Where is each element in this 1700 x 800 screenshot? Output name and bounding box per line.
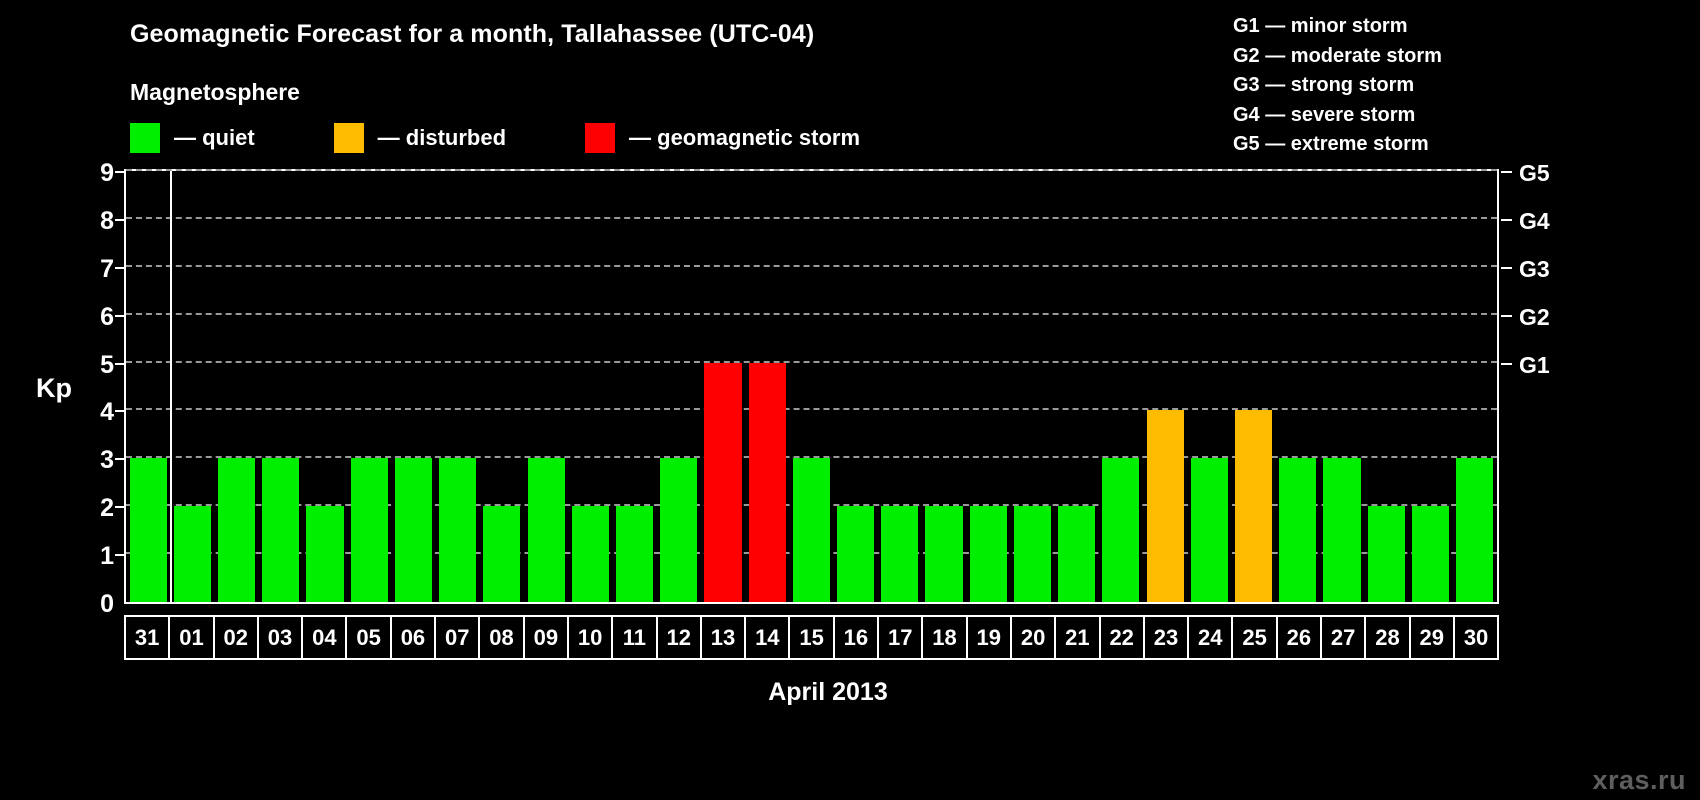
- bar-13: [704, 363, 741, 602]
- gscale-key-line-2: G2 — moderate storm: [1233, 42, 1442, 72]
- legend-swatch-storm-icon: [585, 123, 615, 153]
- bar-01: [174, 506, 211, 602]
- y-tick-label-5: 5: [74, 353, 114, 378]
- bar-cell-29: [1408, 171, 1452, 602]
- legend: — quiet— disturbed— geomagnetic storm: [130, 123, 860, 153]
- y-tick-label-9: 9: [74, 161, 114, 186]
- bar-31: [130, 458, 167, 602]
- bar-cell-05: [347, 171, 391, 602]
- date-cell-06: 06: [390, 615, 436, 660]
- magnetosphere-section-label: Magnetosphere: [130, 79, 300, 106]
- bar-28: [1368, 506, 1405, 602]
- watermark: xras.ru: [1592, 765, 1686, 796]
- date-cell-05: 05: [345, 615, 391, 660]
- y-tick-label-7: 7: [74, 257, 114, 282]
- bar-19: [970, 506, 1007, 602]
- bar-26: [1279, 458, 1316, 602]
- bar-08: [483, 506, 520, 602]
- bar-cell-24: [1187, 171, 1231, 602]
- bar-07: [439, 458, 476, 602]
- bar-12: [660, 458, 697, 602]
- bar-cell-19: [966, 171, 1010, 602]
- gscale-key: G1 — minor stormG2 — moderate stormG3 — …: [1233, 12, 1442, 160]
- legend-item-disturbed: — disturbed: [334, 123, 506, 153]
- g-axis-ticks: G5G4G3G2G1: [1501, 169, 1621, 604]
- date-cell-09: 09: [523, 615, 569, 660]
- bar-cell-14: [745, 171, 789, 602]
- g-tick-mark-G2: [1501, 315, 1512, 317]
- bar-20: [1014, 506, 1051, 602]
- bar-cell-07: [436, 171, 480, 602]
- date-cell-30: 30: [1453, 615, 1499, 660]
- y-tick-label-4: 4: [74, 400, 114, 425]
- bar-cell-09: [524, 171, 568, 602]
- bar-cell-13: [701, 171, 745, 602]
- bar-06: [395, 458, 432, 602]
- bar-cell-23: [1143, 171, 1187, 602]
- bar-cell-25: [1231, 171, 1275, 602]
- bar-cell-06: [391, 171, 435, 602]
- legend-item-storm: — geomagnetic storm: [585, 123, 860, 153]
- gscale-key-line-4: G4 — severe storm: [1233, 101, 1442, 131]
- legend-label-quiet: — quiet: [174, 125, 255, 151]
- bar-03: [262, 458, 299, 602]
- date-cell-10: 10: [567, 615, 613, 660]
- y-tick-label-6: 6: [74, 305, 114, 330]
- bar-18: [925, 506, 962, 602]
- bar-cell-01: [170, 171, 214, 602]
- bar-29: [1412, 506, 1449, 602]
- y-tick-label-8: 8: [74, 209, 114, 234]
- bar-cell-28: [1364, 171, 1408, 602]
- legend-swatch-disturbed-icon: [334, 123, 364, 153]
- date-cell-23: 23: [1143, 615, 1189, 660]
- date-cell-29: 29: [1409, 615, 1455, 660]
- bar-cell-15: [789, 171, 833, 602]
- x-axis-date-row: 3101020304050607080910111213141516171819…: [124, 615, 1499, 660]
- y-tick-label-3: 3: [74, 448, 114, 473]
- g-tick-mark-G1: [1501, 363, 1512, 365]
- bar-16: [837, 506, 874, 602]
- date-cell-21: 21: [1054, 615, 1100, 660]
- g-tick-label-G3: G3: [1519, 258, 1550, 281]
- g-tick-mark-G4: [1501, 219, 1512, 221]
- bar-14: [749, 363, 786, 602]
- bar-30: [1456, 458, 1493, 602]
- date-cell-20: 20: [1010, 615, 1056, 660]
- g-tick-mark-G3: [1501, 267, 1512, 269]
- bar-cell-22: [1099, 171, 1143, 602]
- bar-09: [528, 458, 565, 602]
- bar-02: [218, 458, 255, 602]
- date-cell-07: 07: [434, 615, 480, 660]
- gscale-key-line-1: G1 — minor storm: [1233, 12, 1442, 42]
- date-cell-13: 13: [700, 615, 746, 660]
- bar-cell-04: [303, 171, 347, 602]
- x-axis-title-text: April 2013: [768, 678, 888, 706]
- bar-cell-12: [657, 171, 701, 602]
- date-cell-16: 16: [833, 615, 879, 660]
- date-cell-17: 17: [877, 615, 923, 660]
- x-axis-title: April 2013: [0, 678, 1700, 707]
- legend-label-disturbed: — disturbed: [378, 125, 506, 151]
- date-cell-08: 08: [478, 615, 524, 660]
- g-tick-label-G1: G1: [1519, 354, 1550, 377]
- date-cell-28: 28: [1364, 615, 1410, 660]
- bar-17: [881, 506, 918, 602]
- bar-cell-30: [1453, 171, 1497, 602]
- bar-series: [126, 171, 1497, 602]
- bar-cell-02: [214, 171, 258, 602]
- date-cell-01: 01: [168, 615, 214, 660]
- bar-cell-10: [568, 171, 612, 602]
- g-tick-label-G5: G5: [1519, 162, 1550, 185]
- bar-cell-17: [878, 171, 922, 602]
- bar-cell-08: [480, 171, 524, 602]
- gscale-key-line-5: G5 — extreme storm: [1233, 130, 1442, 160]
- bar-cell-27: [1320, 171, 1364, 602]
- date-cell-02: 02: [213, 615, 259, 660]
- date-cell-27: 27: [1320, 615, 1366, 660]
- bar-05: [351, 458, 388, 602]
- page-title: Geomagnetic Forecast for a month, Tallah…: [130, 20, 814, 49]
- date-cell-14: 14: [744, 615, 790, 660]
- bar-cell-03: [259, 171, 303, 602]
- gscale-key-line-3: G3 — strong storm: [1233, 71, 1442, 101]
- bar-cell-26: [1276, 171, 1320, 602]
- bar-27: [1323, 458, 1360, 602]
- legend-label-storm: — geomagnetic storm: [629, 125, 860, 151]
- date-cell-15: 15: [788, 615, 834, 660]
- bar-24: [1191, 458, 1228, 602]
- date-cell-19: 19: [966, 615, 1012, 660]
- date-cell-12: 12: [656, 615, 702, 660]
- legend-item-quiet: — quiet: [130, 123, 255, 153]
- y-axis-ticks: 9876543210: [74, 169, 114, 604]
- g-tick-label-G2: G2: [1519, 306, 1550, 329]
- y-axis-title: Kp: [36, 373, 72, 404]
- bar-cell-31: [126, 171, 170, 602]
- y-tick-label-0: 0: [74, 592, 114, 617]
- bar-25: [1235, 410, 1272, 602]
- plot-area: [124, 169, 1499, 604]
- date-cell-03: 03: [257, 615, 303, 660]
- bar-cell-11: [612, 171, 656, 602]
- bar-cell-18: [922, 171, 966, 602]
- bar-21: [1058, 506, 1095, 602]
- bar-cell-16: [834, 171, 878, 602]
- bar-04: [306, 506, 343, 602]
- date-cell-22: 22: [1099, 615, 1145, 660]
- g-tick-label-G4: G4: [1519, 210, 1550, 233]
- date-cell-26: 26: [1276, 615, 1322, 660]
- date-cell-31: 31: [124, 615, 170, 660]
- bar-15: [793, 458, 830, 602]
- bar-11: [616, 506, 653, 602]
- bar-10: [572, 506, 609, 602]
- g-tick-mark-G5: [1501, 171, 1512, 173]
- bar-cell-20: [1010, 171, 1054, 602]
- date-cell-11: 11: [611, 615, 657, 660]
- bar-cell-21: [1055, 171, 1099, 602]
- date-cell-24: 24: [1187, 615, 1233, 660]
- bar-23: [1147, 410, 1184, 602]
- date-cell-18: 18: [921, 615, 967, 660]
- date-cell-04: 04: [301, 615, 347, 660]
- y-tick-label-2: 2: [74, 496, 114, 521]
- date-cell-25: 25: [1231, 615, 1277, 660]
- legend-swatch-quiet-icon: [130, 123, 160, 153]
- bar-22: [1102, 458, 1139, 602]
- y-tick-label-1: 1: [74, 544, 114, 569]
